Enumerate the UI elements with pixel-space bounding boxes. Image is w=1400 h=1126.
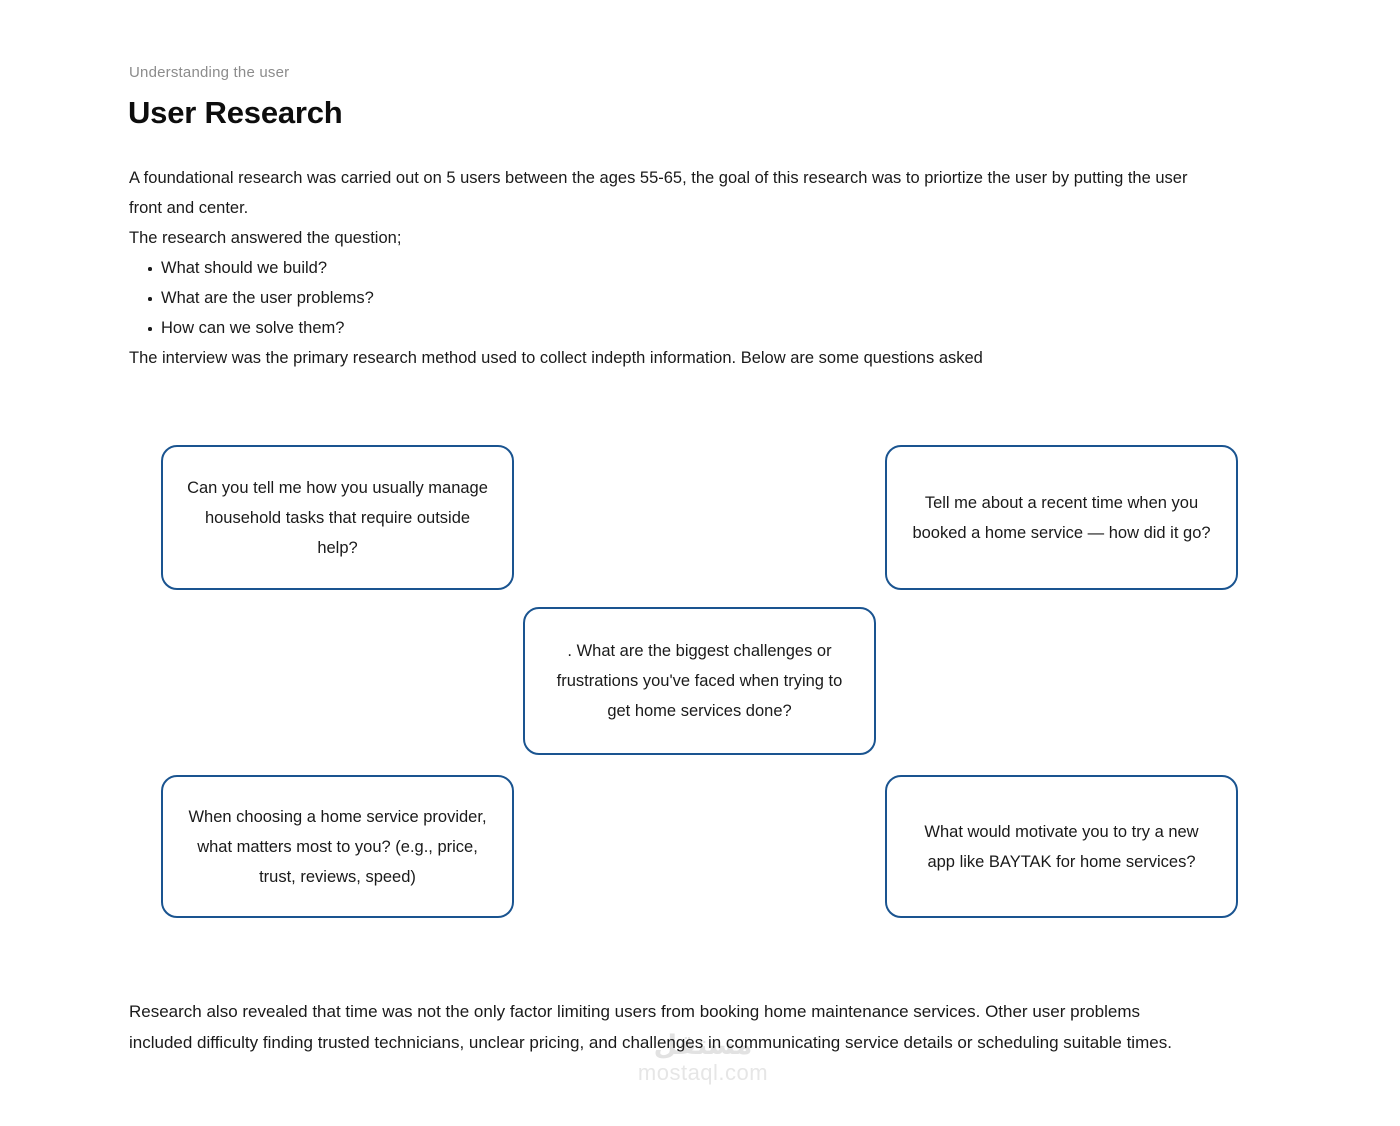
question-card-motivation-to-try-baytak: What would motivate you to try a new app… [885, 775, 1238, 918]
question-card-text: Tell me about a recent time when you boo… [909, 488, 1214, 548]
closing-section: Research also revealed that time was not… [129, 997, 1194, 1058]
question-card-recent-booking-experience: Tell me about a recent time when you boo… [885, 445, 1238, 590]
user-research-page: Understanding the user User Research A f… [0, 0, 1400, 1126]
question-card-provider-selection-criteria: When choosing a home service provider, w… [161, 775, 514, 918]
question-card-text: When choosing a home service provider, w… [185, 802, 490, 892]
question-card-manage-household-tasks: Can you tell me how you usually manage h… [161, 445, 514, 590]
question-card-text: . What are the biggest challenges or fru… [547, 636, 852, 726]
question-card-biggest-challenges: . What are the biggest challenges or fru… [523, 607, 876, 755]
question-card-text: Can you tell me how you usually manage h… [185, 473, 490, 563]
interview-questions-group: Can you tell me how you usually manage h… [0, 0, 1400, 1126]
closing-paragraph: Research also revealed that time was not… [129, 997, 1194, 1058]
question-card-text: What would motivate you to try a new app… [909, 817, 1214, 877]
